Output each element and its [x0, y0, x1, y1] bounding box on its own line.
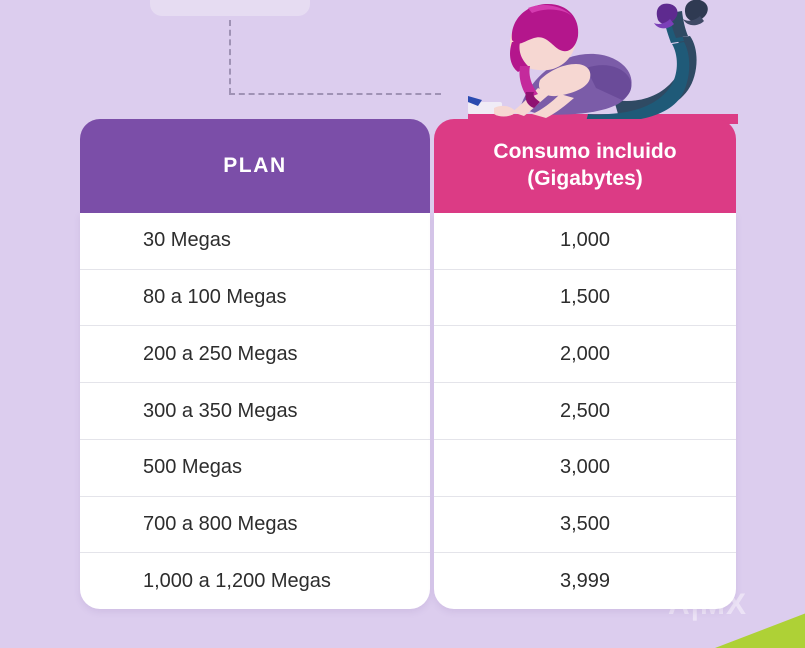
cell-consumo: 1,000	[560, 229, 610, 252]
table-row: 1,500	[434, 270, 736, 327]
column-header-plan: PLAN	[80, 119, 430, 213]
dashed-horizontal-line	[229, 93, 441, 95]
cell-plan: 200 a 250 Megas	[143, 343, 298, 366]
plans-comparison-table: PLAN 30 Megas 80 a 100 Megas 200 a 250 M…	[80, 119, 736, 609]
table-row: 2,000	[434, 326, 736, 383]
table-row: 1,000	[434, 213, 736, 270]
cell-plan: 1,000 a 1,200 Megas	[143, 570, 331, 593]
cell-consumo: 2,500	[560, 400, 610, 423]
green-corner-accent	[715, 606, 805, 648]
table-column-consumo-body: 1,000 1,500 2,000 2,500 3,000 3,500 3,99…	[434, 213, 736, 609]
table-row: 1,000 a 1,200 Megas	[80, 553, 430, 609]
table-row: 3,000	[434, 440, 736, 497]
column-header-consumo: Consumo incluido (Gigabytes)	[434, 119, 736, 213]
speech-bubble-tail-icon	[292, 0, 314, 16]
cell-plan: 500 Megas	[143, 456, 242, 479]
cell-plan: 30 Megas	[143, 229, 231, 252]
table-row: 3,999	[434, 553, 736, 609]
column-header-consumo-line2: (Gigabytes)	[493, 166, 676, 193]
speech-bubble-shape	[150, 0, 310, 16]
cell-consumo: 1,500	[560, 286, 610, 309]
table-row: 3,500	[434, 497, 736, 554]
column-header-consumo-line1: Consumo incluido	[493, 139, 676, 166]
cell-consumo: 3,500	[560, 513, 610, 536]
woman-lying-down-writing-illustration	[468, 0, 738, 124]
table-row: 700 a 800 Megas	[80, 497, 430, 554]
dashed-vertical-line	[229, 20, 231, 94]
table-row: 300 a 350 Megas	[80, 383, 430, 440]
table-row: 80 a 100 Megas	[80, 270, 430, 327]
cell-consumo: 3,000	[560, 456, 610, 479]
cell-plan: 80 a 100 Megas	[143, 286, 286, 309]
cell-consumo: 3,999	[560, 570, 610, 593]
cell-plan: 700 a 800 Megas	[143, 513, 298, 536]
cell-plan: 300 a 350 Megas	[143, 400, 298, 423]
table-row: 500 Megas	[80, 440, 430, 497]
cell-consumo: 2,000	[560, 343, 610, 366]
table-column-plan: PLAN 30 Megas 80 a 100 Megas 200 a 250 M…	[80, 119, 430, 609]
table-row: 2,500	[434, 383, 736, 440]
table-column-plan-body: 30 Megas 80 a 100 Megas 200 a 250 Megas …	[80, 213, 430, 609]
column-header-plan-label: PLAN	[223, 154, 287, 178]
table-row: 200 a 250 Megas	[80, 326, 430, 383]
table-row: 30 Megas	[80, 213, 430, 270]
table-column-consumo: Consumo incluido (Gigabytes) 1,000 1,500…	[434, 119, 736, 609]
